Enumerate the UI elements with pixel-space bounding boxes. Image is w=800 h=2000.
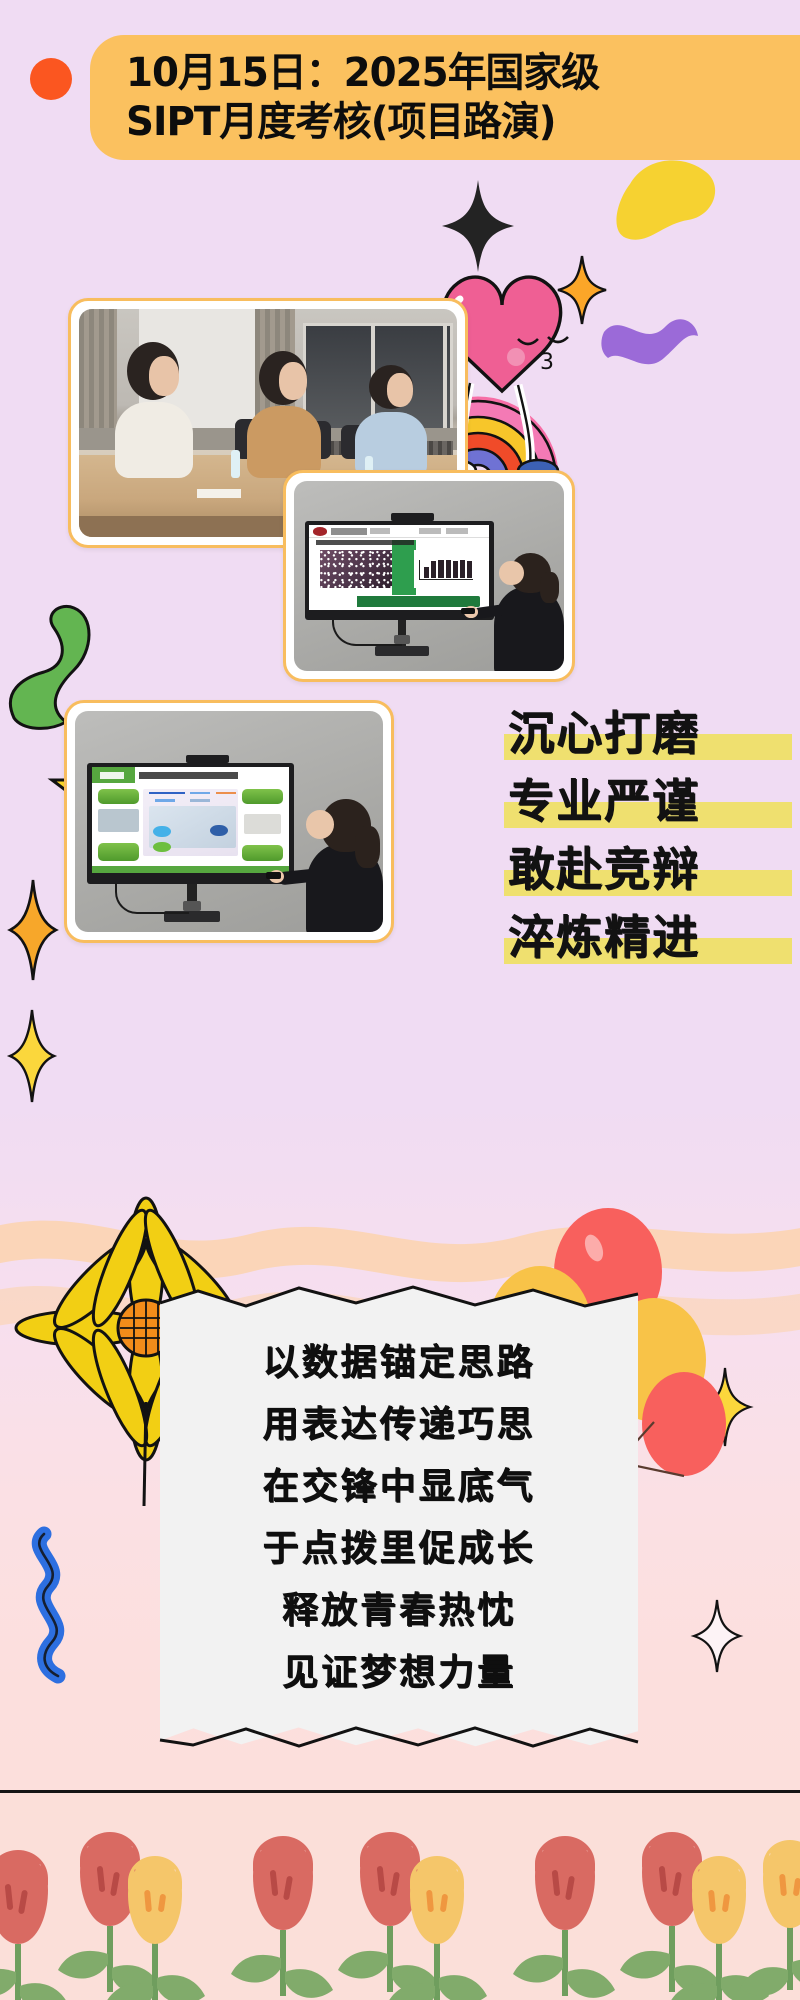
title-line-2: SIPT月度考核(项目路演) bbox=[126, 98, 800, 147]
diamond-sparkle-icon bbox=[10, 880, 56, 980]
photo-presentation-micrograph-image bbox=[294, 481, 564, 671]
paper-line: 释放青春热忱 bbox=[282, 1580, 516, 1642]
orange-dot-icon bbox=[30, 58, 72, 100]
slogan-text: 敢赴竞辩 bbox=[498, 836, 798, 902]
slogan-text: 专业严谨 bbox=[498, 768, 798, 834]
slogan-item: 沉心打磨 bbox=[498, 700, 798, 768]
poster-root: 10月15日：2025年国家级 SIPT月度考核(项目路演) bbox=[0, 0, 800, 2000]
tulip-divider bbox=[0, 1790, 800, 1793]
paper-line: 见证梦想力量 bbox=[282, 1642, 516, 1704]
sparkle-black-icon bbox=[442, 180, 514, 272]
photo-presentation-micrograph bbox=[283, 470, 575, 682]
title-line-1: 10月15日：2025年国家级 bbox=[126, 49, 800, 98]
slogan-item: 淬炼精进 bbox=[498, 904, 798, 972]
sparkle-white-icon bbox=[694, 1600, 740, 1672]
blue-squiggle-icon bbox=[14, 1530, 84, 1680]
slogan-item: 专业严谨 bbox=[498, 768, 798, 836]
slogan-text: 淬炼精进 bbox=[498, 904, 798, 970]
paper-line: 用表达传递巧思 bbox=[262, 1394, 535, 1456]
slogan-item: 敢赴竞辩 bbox=[498, 836, 798, 904]
paper-line: 以数据锚定思路 bbox=[262, 1332, 535, 1394]
sparkle-yellow-icon bbox=[10, 1010, 54, 1102]
yellow-blob-icon bbox=[612, 150, 732, 270]
paper-line: 于点拨里促成长 bbox=[262, 1518, 535, 1580]
paper-line: 在交锋中显底气 bbox=[262, 1456, 535, 1518]
page-title: 10月15日：2025年国家级 SIPT月度考核(项目路演) bbox=[90, 35, 800, 160]
photo-presentation-design bbox=[64, 700, 394, 943]
slogan-text: 沉心打磨 bbox=[498, 700, 798, 766]
photo-presentation-design-image bbox=[75, 711, 383, 932]
paper-line-list: 以数据锚定思路 用表达传递巧思 在交锋中显底气 于点拨里促成长 释放青春热忱 见… bbox=[160, 1280, 638, 1750]
tulip-row-icon bbox=[0, 1790, 800, 2000]
slogan-list: 沉心打磨 专业严谨 敢赴竞辩 淬炼精进 bbox=[498, 700, 798, 972]
svg-text:3: 3 bbox=[540, 350, 554, 375]
